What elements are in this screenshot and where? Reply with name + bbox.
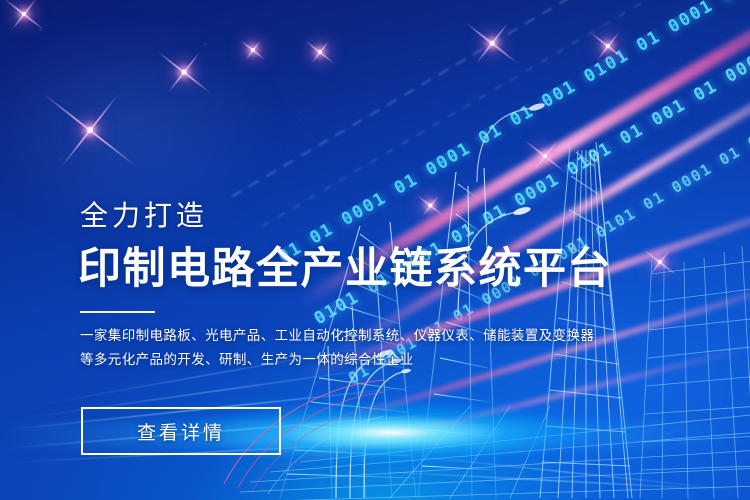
hero-headline: 印制电路全产业链系统平台 bbox=[78, 234, 612, 296]
view-details-button[interactable]: 查看详情 bbox=[81, 407, 281, 455]
hero-description-line-2: 等多元化产品的开发、研制、生产为一体的综合性企业 bbox=[80, 348, 680, 372]
hero-banner: 01 01 0001 01 0001 01 01 001 0101 01 000… bbox=[0, 0, 750, 500]
hero-eyebrow: 全力打造 bbox=[80, 194, 208, 234]
hero-description: 一家集印制电路板、光电产品、工业自动化控制系统、仪器仪表、储能装置及变换器 等多… bbox=[80, 324, 680, 372]
hero-content: 全力打造 印制电路全产业链系统平台 一家集印制电路板、光电产品、工业自动化控制系… bbox=[0, 0, 750, 500]
hero-description-line-1: 一家集印制电路板、光电产品、工业自动化控制系统、仪器仪表、储能装置及变换器 bbox=[80, 324, 680, 348]
hero-divider bbox=[80, 311, 155, 313]
